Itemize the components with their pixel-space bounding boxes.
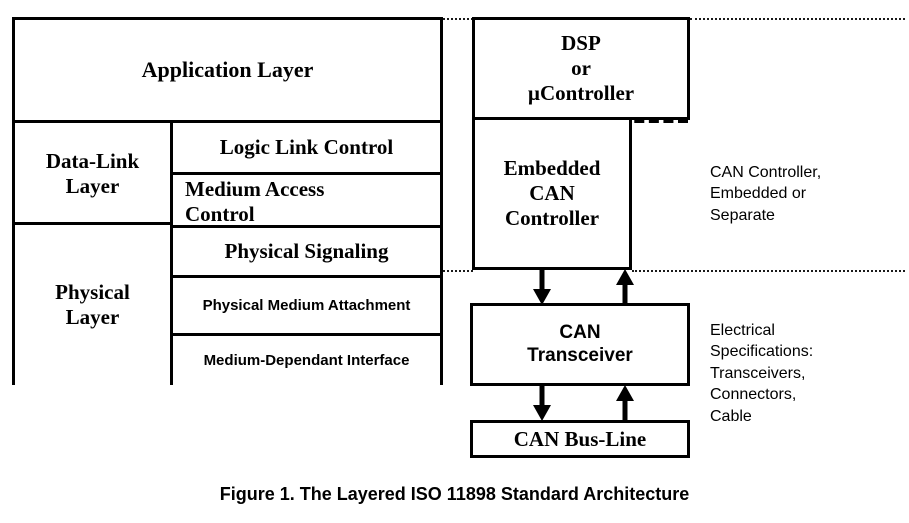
figure-canvas: Application Layer Data-Link Layer Physic…	[0, 0, 909, 523]
iso-layer-table: Application Layer Data-Link Layer Physic…	[12, 17, 443, 385]
annotation-electrical-specs: Electrical Specifications: Transceivers,…	[710, 298, 900, 428]
dotted-rule-middle-right	[632, 270, 905, 272]
dotted-rule-top-right	[690, 18, 905, 20]
dsp-microcontroller-label: DSP or µController	[528, 31, 634, 105]
cell-logic-link-control: Logic Link Control	[173, 123, 440, 172]
arrow-bus-to-transceiver	[613, 384, 637, 422]
physical-layer-label: Physical Layer	[55, 280, 130, 330]
medium-dependant-interface-label: Medium-Dependant Interface	[204, 352, 410, 369]
physical-medium-attachment-label: Physical Medium Attachment	[203, 297, 411, 314]
annotation-can-controller: CAN Controller, Embedded or Separate	[710, 140, 900, 226]
arrow-transceiver-to-bus	[530, 384, 554, 422]
box-can-transceiver: CAN Transceiver	[470, 303, 690, 386]
annotation-electrical-specs-text: Electrical Specifications: Transceivers,…	[710, 322, 813, 425]
logic-link-control-label: Logic Link Control	[220, 135, 393, 160]
figure-caption-text: Figure 1. The Layered ISO 11898 Standard…	[220, 484, 690, 504]
cell-data-link-layer: Data-Link Layer	[15, 123, 170, 225]
physical-signaling-label: Physical Signaling	[225, 239, 389, 264]
application-layer-label: Application Layer	[142, 57, 314, 83]
dotted-rule-top-left	[443, 18, 473, 20]
data-link-layer-label: Data-Link Layer	[46, 149, 139, 199]
arrow-controller-to-transceiver	[530, 268, 554, 306]
box-embedded-can-controller: Embedded CAN Controller	[472, 120, 632, 270]
cell-physical-medium-attachment: Physical Medium Attachment	[173, 278, 440, 333]
cell-medium-dependant-interface: Medium-Dependant Interface	[173, 336, 440, 385]
cell-physical-layer: Physical Layer	[15, 225, 170, 385]
medium-access-control-label: Medium Access Control	[185, 177, 324, 225]
can-bus-line-label: CAN Bus-Line	[514, 427, 646, 452]
box-can-bus-line: CAN Bus-Line	[470, 420, 690, 458]
dotted-rule-middle-left	[443, 270, 473, 272]
figure-caption: Figure 1. The Layered ISO 11898 Standard…	[0, 484, 909, 505]
can-transceiver-label: CAN Transceiver	[527, 322, 633, 367]
cell-medium-access-control: Medium Access Control	[173, 175, 440, 225]
box-dsp-microcontroller: DSP or µController	[472, 17, 690, 120]
embedded-can-controller-label: Embedded CAN Controller	[504, 156, 601, 230]
cell-physical-signaling: Physical Signaling	[173, 228, 440, 275]
annotation-can-controller-text: CAN Controller, Embedded or Separate	[710, 164, 821, 224]
arrow-transceiver-to-controller	[613, 268, 637, 306]
cell-application-layer: Application Layer	[15, 20, 440, 120]
